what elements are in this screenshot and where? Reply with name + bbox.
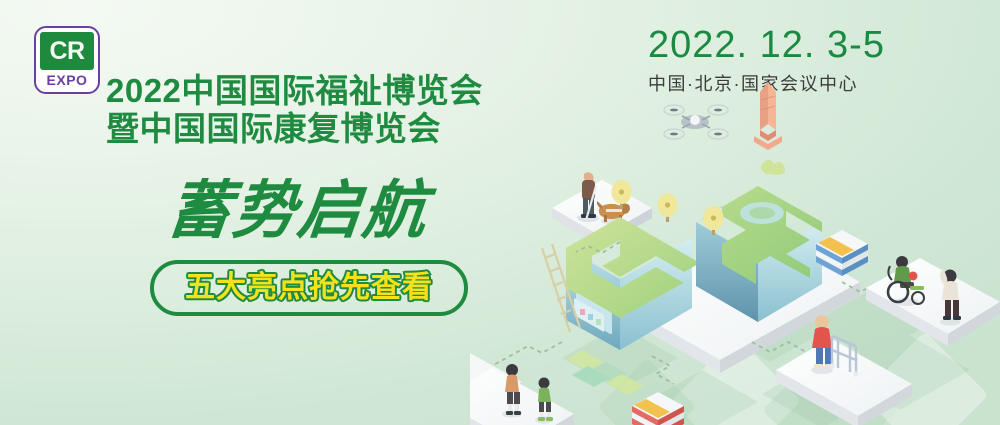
logo-mark-text: CR: [49, 39, 84, 64]
cr-expo-logo[interactable]: CR EXPO: [34, 26, 100, 94]
event-date: 2022. 12. 3-5: [648, 24, 898, 66]
highlight-cta-button[interactable]: 五大亮点抢先查看: [150, 260, 468, 316]
drone-icon: [664, 105, 728, 139]
logo-mark-box: CR: [40, 32, 94, 70]
obelisk-monument: [754, 82, 782, 150]
platform-runners: [470, 368, 574, 425]
slogan-text: 蓄势启航: [165, 178, 432, 244]
promo-banner: CR EXPO 2022中国国际福祉博览会 暨中国国际康复博览会 蓄势启航 五大…: [0, 0, 1000, 425]
isometric-illustration: [470, 70, 1000, 425]
figure-assistant: [940, 270, 961, 326]
logo-sub-text: EXPO: [40, 73, 94, 87]
highlight-cta-label: 五大亮点抢先查看: [185, 272, 433, 304]
